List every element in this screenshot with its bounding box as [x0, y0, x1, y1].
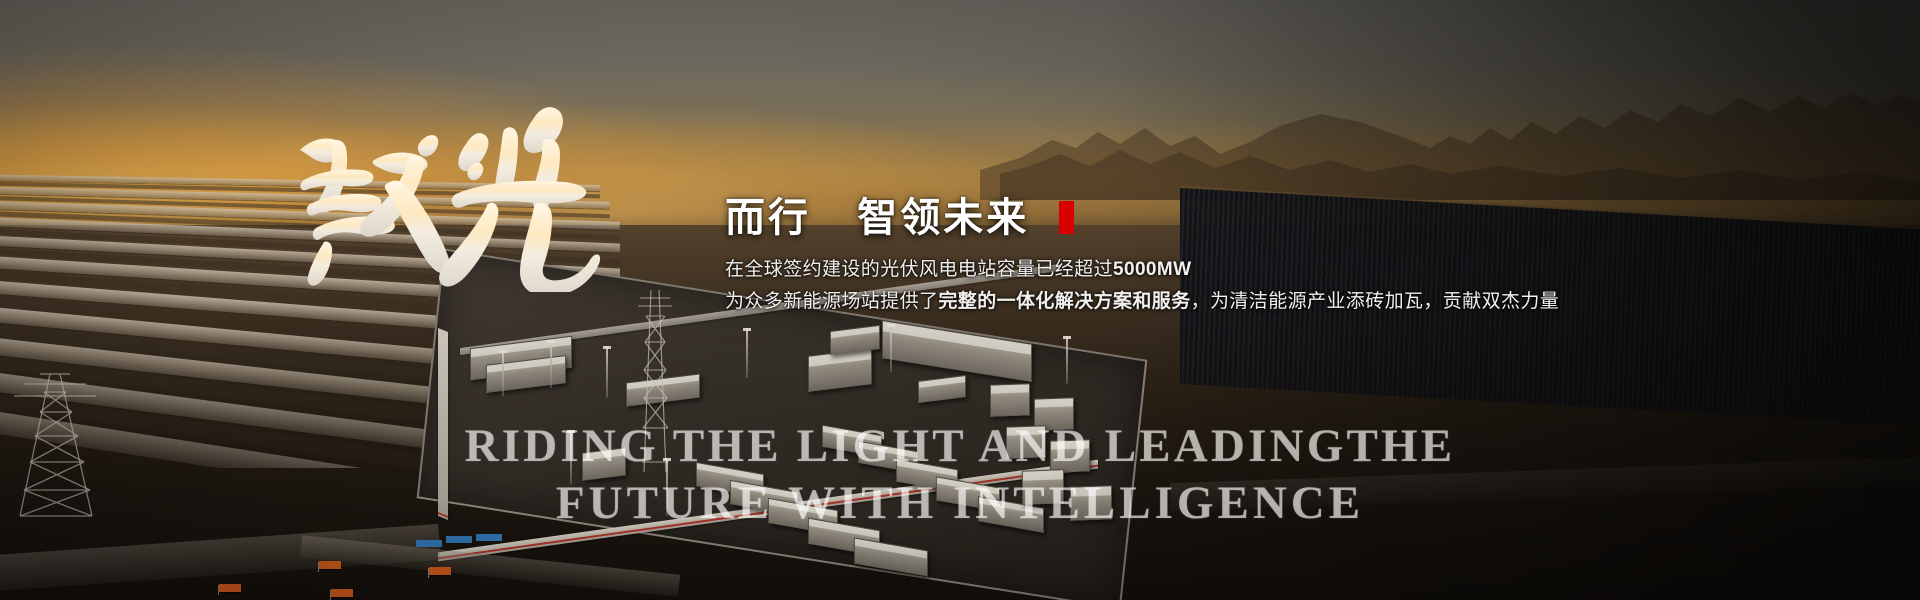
light-pole: [550, 340, 552, 388]
marker-flag: [219, 584, 241, 592]
site-sign: [476, 534, 502, 541]
light-pole: [666, 458, 668, 516]
subtitle-line-2-highlight: 完整的一体化解决方案和服务: [938, 291, 1190, 312]
subtitle-line-2: 为众多新能源场站提供了完整的一体化解决方案和服务，为清洁能源产业添砖加瓦，贡献双…: [725, 287, 1725, 316]
light-pole: [1066, 336, 1068, 384]
battery-energy-storage-substation: [430, 280, 1190, 570]
marker-flag: [429, 567, 451, 575]
subtitle-line-2-prefix: 为众多新能源场站提供了: [725, 291, 938, 312]
site-sign: [446, 536, 472, 543]
site-sign: [416, 540, 442, 547]
hero-banner: 而行 智领未来 在全球签约建设的光伏风电电站容量已经超过5000MW 为众多新能…: [0, 0, 1920, 600]
subtitle-line-1-text: 在全球签约建设的光伏风电电站容量已经超过: [725, 259, 1113, 280]
hero-text-block: 而行 智领未来 在全球签约建设的光伏风电电站容量已经超过5000MW 为众多新能…: [725, 196, 1725, 317]
headline-part-one: 而行: [725, 196, 811, 240]
headline-part-two: 智领未来: [857, 196, 1029, 240]
guard-house: [582, 447, 626, 480]
battery-container: [990, 383, 1030, 416]
light-pole: [746, 328, 748, 378]
battery-container: [1022, 469, 1064, 504]
perimeter-wall-left: [438, 328, 448, 520]
battery-container: [1070, 485, 1112, 520]
subtitle-line-2-suffix: ，为清洁能源产业添砖加瓦，贡献双杰力量: [1191, 291, 1560, 312]
red-block-mark: [1059, 201, 1074, 234]
marker-flag: [331, 589, 353, 597]
transmission-tower: [6, 370, 102, 520]
headline: 而行 智领未来: [725, 196, 1725, 241]
light-pole: [502, 350, 504, 396]
battery-container: [1006, 425, 1046, 458]
battery-container: [1050, 439, 1090, 472]
light-pole: [890, 324, 892, 372]
lattice-pylon: [636, 286, 674, 476]
light-pole: [606, 346, 608, 398]
subtitle-line-1: 在全球签约建设的光伏风电电站容量已经超过5000MW: [725, 255, 1725, 284]
marker-flag: [319, 561, 341, 569]
mountain-range-foreground: [1000, 110, 1920, 200]
light-pole: [570, 430, 572, 484]
subtitle-capacity-value: 5000MW: [1113, 259, 1191, 280]
